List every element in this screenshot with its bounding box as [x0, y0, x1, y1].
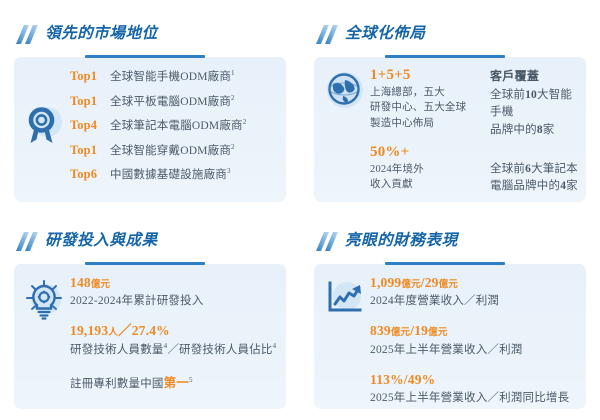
line-chart-up-icon-wrap: [320, 273, 370, 319]
stat-block: 1,099億元/29億元 2024年度營業收入／利潤: [370, 275, 580, 309]
stat-value: 148億元: [70, 275, 280, 291]
list-item: Top1 全球智能穿戴ODM廠商2: [70, 142, 280, 158]
global-left-column: 1+5+5 上海總部，五大 研發中心、五大全球 製造中心佈局 50%+ 2024…: [370, 67, 482, 195]
globe-icon: [325, 70, 365, 110]
card-top-rule: [385, 55, 505, 58]
stat-block: 50%+ 2024年境外 收入貢獻: [370, 144, 482, 193]
medal-icon: [24, 104, 66, 148]
card-global: 1+5+5 上海總部，五大 研發中心、五大全球 製造中心佈局 50%+ 2024…: [314, 57, 586, 202]
list-item: Top1 全球平板電腦ODM廠商2: [70, 93, 280, 109]
stat-block: 113%/49% 2025年上半年營業收入／利潤同比增長: [370, 372, 580, 406]
market-top-list: Top1 全球智能手機ODM廠商1 Top1 全球平板電腦ODM廠商2 Top4…: [70, 66, 280, 182]
globe-icon-wrap: [320, 66, 370, 110]
stat-sub: 2025年上半年營業收入／利潤同比增長: [370, 390, 580, 406]
customer-coverage-heading: 客戶覆蓋: [490, 67, 580, 84]
stat-sub: 2024年境外 收入貢獻: [370, 162, 482, 192]
rank-label: Top1: [70, 94, 110, 109]
quadrant-market: 領先的市場地位 Top1 全球智能手機ODM廠商1: [0, 0, 300, 207]
list-item: Top4 全球筆記本電腦ODM廠商2: [70, 117, 280, 133]
rank-desc: 全球智能手機ODM廠商1: [110, 68, 235, 84]
rank-label: Top1: [70, 69, 110, 84]
list-item: Top1 全球智能手機ODM廠商1: [70, 68, 280, 84]
rnd-stats: 148億元 2022-2024年累計研發投入 19,193人／27.4% 研發技…: [70, 273, 280, 391]
rank-desc: 全球筆記本電腦ODM廠商2: [110, 117, 246, 133]
stat-value: 1+5+5: [370, 67, 482, 84]
stat-sub: 2024年度營業收入／利潤: [370, 293, 580, 309]
line-chart-up-icon: [324, 279, 366, 319]
rank-label: Top1: [70, 143, 110, 158]
quadrant-finance: 亮眼的財務表現 1,099億元/29億元 2024年度營業收入／利潤: [300, 207, 600, 415]
footnote-marker: 3: [227, 167, 231, 175]
section-title: 領先的市場地位: [45, 26, 158, 42]
stat-sub: 2025年上半年營業收入／利潤: [370, 342, 580, 358]
stat-sub: 上海總部，五大 研發中心、五大全球 製造中心佈局: [370, 85, 482, 131]
quadrant-rnd: 研發投入與成果: [0, 207, 300, 415]
patent-highlight: 第一: [164, 376, 189, 390]
footnote-marker: 4: [273, 342, 277, 350]
stat-value: 839億元/19億元: [370, 323, 580, 339]
footnote-marker: 5: [189, 376, 193, 384]
card-top-rule: [85, 55, 205, 58]
stat-block: 148億元 2022-2024年累計研發投入: [70, 275, 280, 309]
rank-desc: 全球智能穿戴ODM廠商2: [110, 142, 235, 158]
footnote-marker: 1: [231, 69, 235, 77]
lightbulb-gear-icon-wrap: [20, 273, 70, 321]
stat-value: 113%/49%: [370, 372, 580, 388]
stat-block: 1+5+5 上海總部，五大 研發中心、五大全球 製造中心佈局: [370, 67, 482, 131]
spacer: [490, 139, 580, 161]
double-slash-icon: [16, 232, 38, 251]
customer-coverage-line-1: 全球前10大智能手機 品牌中的8家: [490, 87, 580, 139]
finance-stats: 1,099億元/29億元 2024年度營業收入／利潤 839億元/19億元 20…: [370, 273, 580, 420]
lightbulb-gear-icon: [25, 279, 65, 321]
stat-block: 19,193人／27.4% 研發技術人員數量4／研發技術人員佔比4: [70, 323, 280, 357]
medal-icon-wrap: [20, 66, 70, 186]
customer-coverage-line-2: 全球前6大筆記本 電腦品牌中的4家: [490, 161, 580, 196]
card-finance: 1,099億元/29億元 2024年度營業收入／利潤 839億元/19億元 20…: [314, 264, 586, 409]
double-slash-icon: [316, 232, 338, 251]
stat-value: 1,099億元/29億元: [370, 275, 580, 291]
card-top-rule: [385, 262, 505, 265]
patent-line: 註冊專利數量中國第一5: [70, 372, 280, 391]
card-market: Top1 全球智能手機ODM廠商1 Top1 全球平板電腦ODM廠商2 Top4…: [14, 57, 286, 202]
section-header-global: 全球化佈局: [300, 0, 600, 48]
card-rnd: 148億元 2022-2024年累計研發投入 19,193人／27.4% 研發技…: [14, 264, 286, 409]
infographic-grid: 領先的市場地位 Top1 全球智能手機ODM廠商1: [0, 0, 600, 415]
rank-label: Top4: [70, 118, 110, 133]
card-top-rule: [85, 262, 205, 265]
double-slash-icon: [16, 25, 38, 44]
stat-sub: 研發技術人員數量4／研發技術人員佔比4: [70, 342, 280, 358]
section-title: 研發投入與成果: [45, 233, 158, 249]
footnote-marker: 2: [231, 143, 235, 151]
stat-sub: 2022-2024年累計研發投入: [70, 293, 280, 309]
section-title: 全球化佈局: [345, 26, 426, 42]
section-header-rnd: 研發投入與成果: [0, 207, 300, 255]
stat-value: 50%+: [370, 144, 482, 161]
global-right-column: 客戶覆蓋 全球前10大智能手機 品牌中的8家 全球前6大筆記本 電腦品牌中的4家: [490, 67, 580, 195]
footnote-marker: 2: [231, 94, 235, 102]
list-item: Top6 中國數據基礎設施廠商3: [70, 166, 280, 182]
stat-block: 839億元/19億元 2025年上半年營業收入／利潤: [370, 323, 580, 357]
section-header-finance: 亮眼的財務表現: [300, 207, 600, 255]
footnote-marker: 2: [243, 118, 247, 126]
double-slash-icon: [316, 25, 338, 44]
rank-desc: 全球平板電腦ODM廠商2: [110, 93, 235, 109]
quadrant-global: 全球化佈局 1+5+5: [300, 0, 600, 207]
section-header-market: 領先的市場地位: [0, 0, 300, 48]
section-title: 亮眼的財務表現: [345, 233, 458, 249]
stat-value: 19,193人／27.4%: [70, 323, 280, 339]
rank-desc: 中國數據基礎設施廠商3: [110, 166, 231, 182]
rank-label: Top6: [70, 167, 110, 182]
